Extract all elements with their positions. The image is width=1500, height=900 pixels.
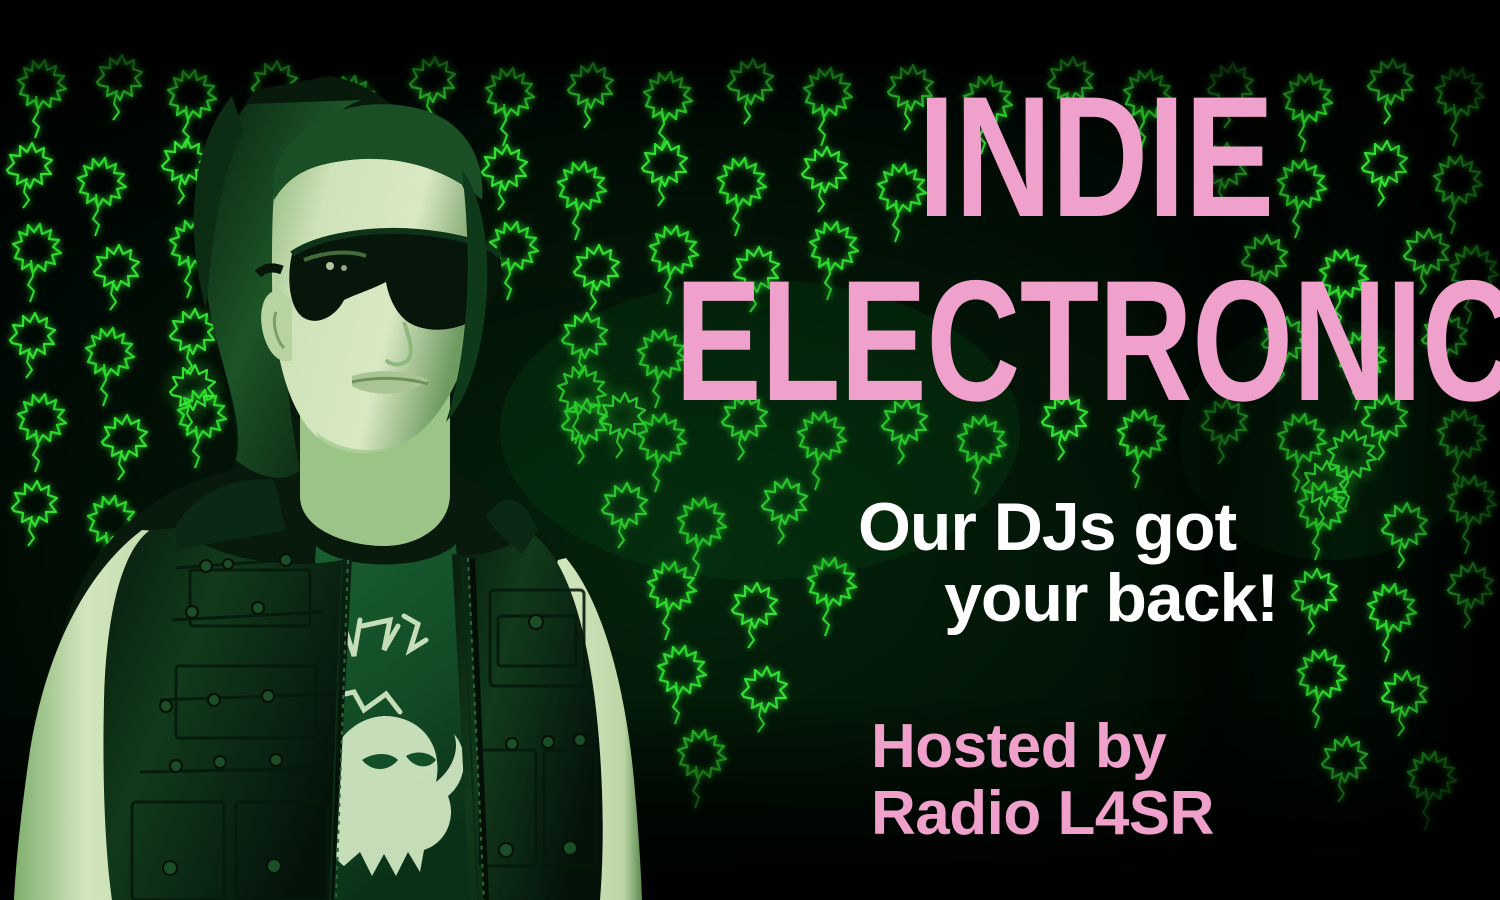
subject-photo-person: [0, 60, 760, 900]
headline-line-2: ELECTRONICAL: [675, 268, 1500, 416]
hosted-by-block: Hosted by Radio L4SR: [871, 714, 1214, 848]
headline-line-1: INDIE: [918, 84, 1274, 232]
promo-banner: INDIE ELECTRONICAL Our DJs got your back…: [0, 0, 1500, 900]
host-station-name: Radio L4SR: [871, 781, 1214, 848]
tagline-line-2: your back!: [858, 563, 1278, 634]
tagline: Our DJs got your back!: [858, 492, 1278, 633]
hosted-by-label: Hosted by: [871, 714, 1214, 781]
tagline-line-1: Our DJs got: [858, 492, 1278, 563]
